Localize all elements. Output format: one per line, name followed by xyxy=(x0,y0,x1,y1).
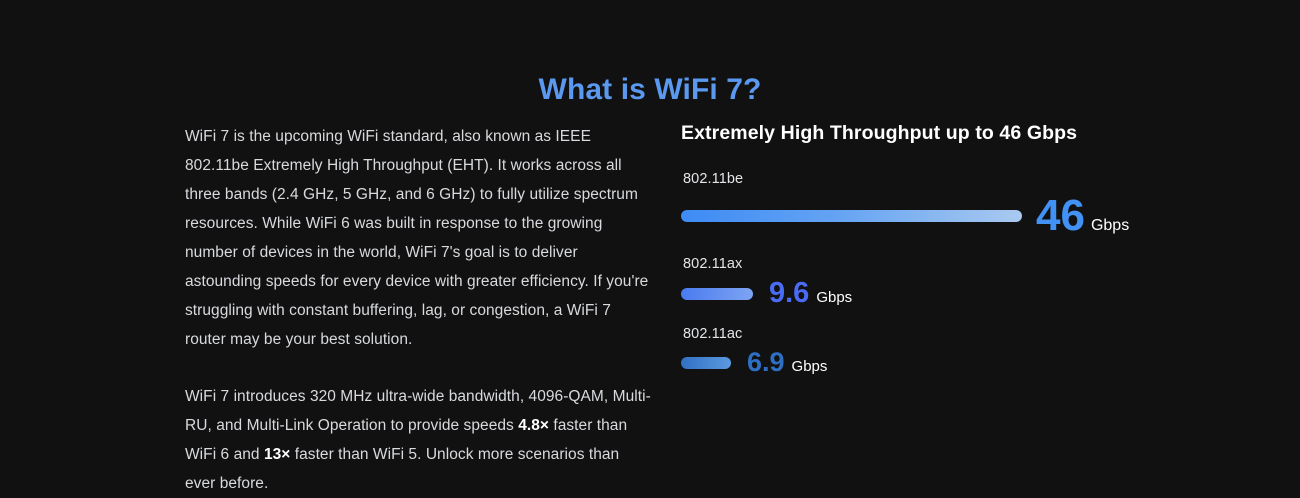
bar-value-unit-802-11ax: Gbps xyxy=(816,289,852,306)
bar-fill-802-11ax xyxy=(681,288,753,300)
bar-value-802-11be: 46 Gbps xyxy=(1036,194,1129,238)
bar-group-802-11be: 802.11be 46 Gbps xyxy=(681,171,1181,238)
bar-value-number-802-11ax: 9.6 xyxy=(769,279,809,308)
article-column: WiFi 7 is the upcoming WiFi standard, al… xyxy=(185,122,653,498)
bar-value-802-11ac: 6.9 Gbps xyxy=(747,349,827,376)
bar-value-number-802-11be: 46 xyxy=(1036,194,1085,238)
bar-label-802-11be: 802.11be xyxy=(683,171,1181,187)
bar-group-802-11ac: 802.11ac 6.9 Gbps xyxy=(681,326,1181,376)
bar-group-802-11ax: 802.11ax 9.6 Gbps xyxy=(681,256,1181,308)
bar-label-802-11ax: 802.11ax xyxy=(683,256,1181,272)
paragraph-2-emphasis-1: 4.8× xyxy=(518,417,549,434)
page-root: What is WiFi 7? WiFi 7 is the upcoming W… xyxy=(0,0,1300,467)
bar-value-number-802-11ac: 6.9 xyxy=(747,349,785,376)
page-title: What is WiFi 7? xyxy=(0,73,1300,107)
article-paragraph-2: WiFi 7 introduces 320 MHz ultra-wide ban… xyxy=(185,382,653,498)
paragraph-2-emphasis-2: 13× xyxy=(264,446,290,463)
throughput-chart: Extremely High Throughput up to 46 Gbps … xyxy=(681,122,1181,394)
bar-row-802-11ax: 9.6 Gbps xyxy=(681,279,1181,308)
bar-row-802-11ac: 6.9 Gbps xyxy=(681,349,1181,376)
chart-title: Extremely High Throughput up to 46 Gbps xyxy=(681,122,1181,145)
bar-fill-802-11be xyxy=(681,210,1022,222)
bar-fill-802-11ac xyxy=(681,357,731,369)
bar-label-802-11ac: 802.11ac xyxy=(683,326,1181,342)
bar-row-802-11be: 46 Gbps xyxy=(681,194,1181,238)
bar-value-unit-802-11ac: Gbps xyxy=(792,358,828,375)
bar-value-unit-802-11be: Gbps xyxy=(1091,217,1129,235)
article-paragraph-1: WiFi 7 is the upcoming WiFi standard, al… xyxy=(185,122,653,354)
bar-value-802-11ax: 9.6 Gbps xyxy=(769,279,852,308)
